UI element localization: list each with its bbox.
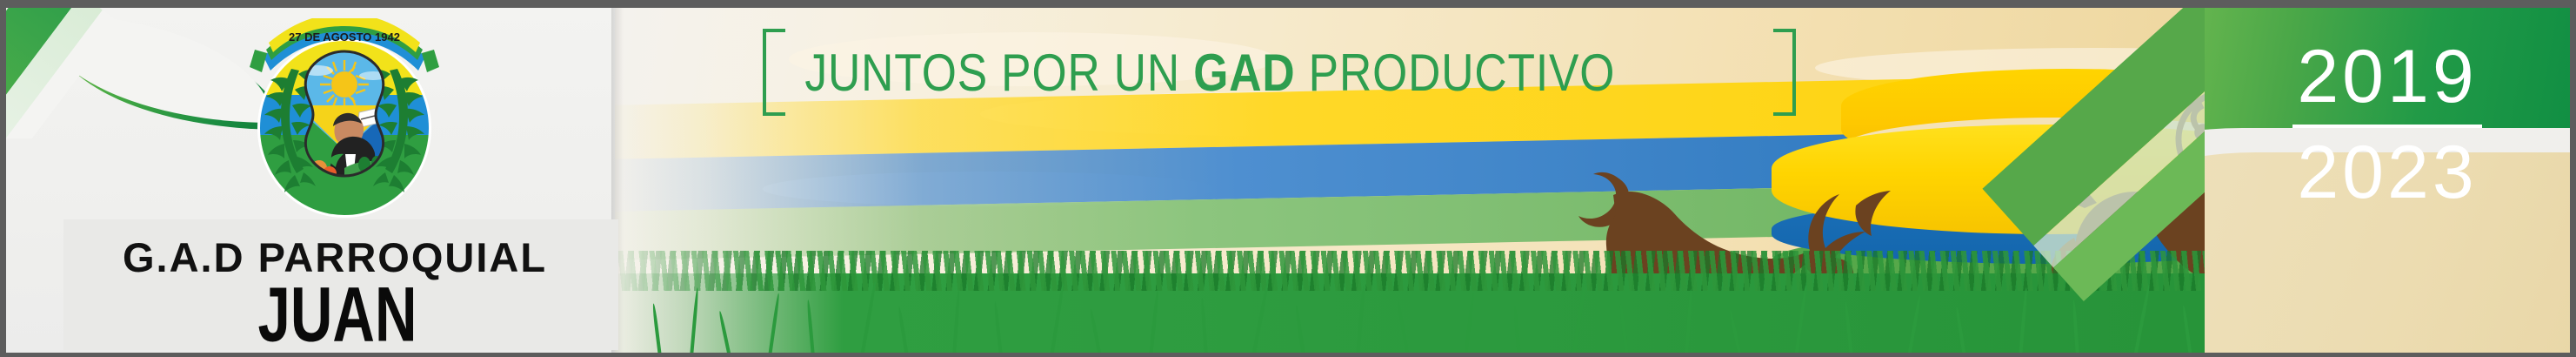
slogan: JUNTOS POR UN GAD PRODUCTIVO — [763, 30, 1796, 114]
banner-stage: JUNTOS POR UN GAD PRODUCTIVO 2019 2023 — [6, 8, 2570, 353]
bracket-left-icon — [763, 29, 785, 116]
bracket-right-icon — [1773, 29, 1796, 116]
identity-panel: 27 DE AGOSTO 1942 G.A.D PARROQUIAL JUAN … — [6, 8, 615, 353]
slogan-highlight: GAD — [1193, 44, 1295, 102]
end-year: 2023 — [2205, 135, 2570, 212]
period-panel: 2019 2023 — [2205, 8, 2570, 353]
period-years: 2019 2023 — [2205, 39, 2570, 211]
leaf-decoration — [6, 8, 267, 138]
slogan-suffix: PRODUCTIVO — [1295, 44, 1615, 102]
slogan-prefix: JUNTOS POR UN — [804, 44, 1193, 102]
sun-icon — [331, 71, 357, 98]
slogan-text: JUNTOS POR UN GAD PRODUCTIVO — [785, 43, 1635, 103]
start-year: 2019 — [2205, 39, 2570, 116]
crest-ribbon-text: 27 DE AGOSTO 1942 — [289, 30, 400, 44]
coat-of-arms: 27 DE AGOSTO 1942 — [237, 18, 451, 220]
institutional-banner: JUNTOS POR UN GAD PRODUCTIVO 2019 2023 — [0, 0, 2576, 357]
organization-nameplate: G.A.D PARROQUIAL JUAN BAUTISTA AGUIRRE — [63, 219, 618, 350]
org-line-2: JUAN BAUTISTA AGUIRRE — [118, 275, 557, 353]
year-divider — [2292, 125, 2482, 128]
